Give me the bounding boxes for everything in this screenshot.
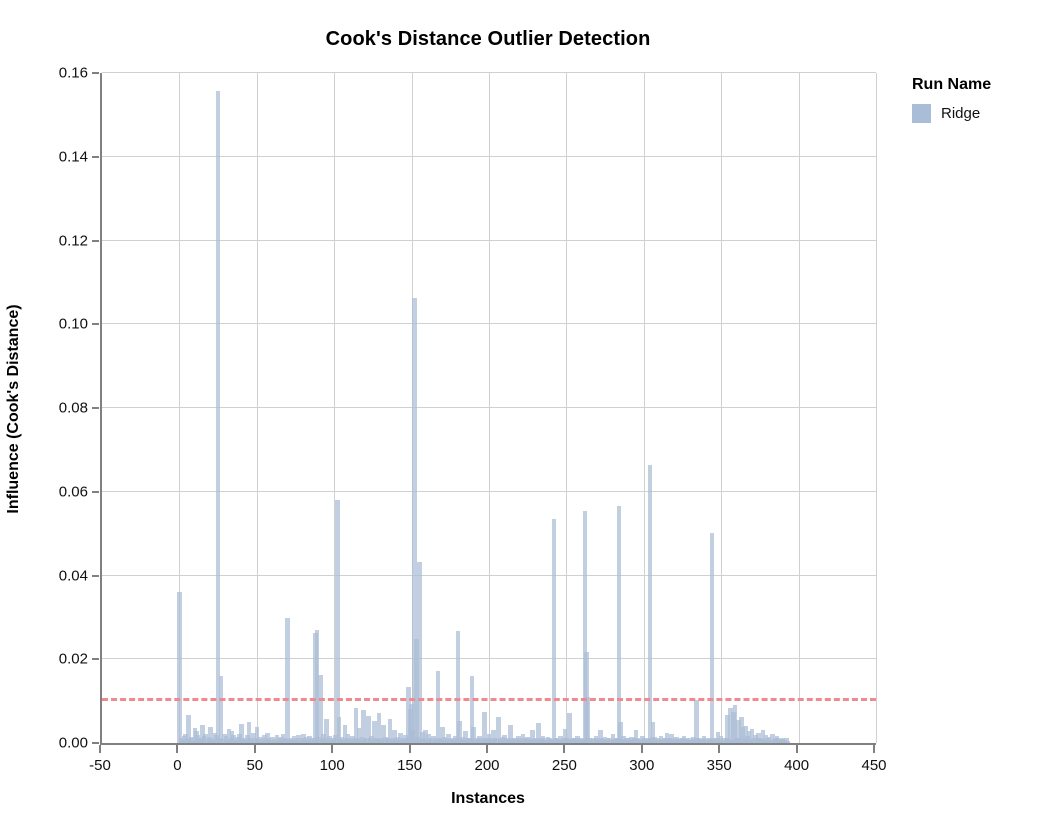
x-tick-mark (331, 745, 333, 753)
y-tick-label: 0.16 (32, 65, 88, 82)
x-tick-label: -50 (89, 757, 111, 774)
x-tick-mark (409, 745, 411, 753)
y-tick-mark (92, 240, 99, 242)
legend-entry-ridge[interactable]: Ridge (912, 104, 1032, 123)
x-tick-mark (176, 745, 178, 753)
y-tick-mark (92, 323, 99, 325)
y-tick-label: 0.12 (32, 232, 88, 249)
cooks-distance-chart: Cook's Distance Outlier Detection Influe… (0, 0, 1040, 840)
x-tick-mark (796, 745, 798, 753)
legend-entry-label: Ridge (941, 105, 980, 122)
y-axis-title: Influence (Cook's Distance) (5, 304, 23, 513)
y-tick-label: 0.14 (32, 148, 88, 165)
x-tick-mark (563, 745, 565, 753)
legend-title: Run Name (912, 76, 1032, 94)
y-tick-mark (92, 658, 99, 660)
x-tick-label: 150 (397, 757, 422, 774)
y-tick-label: 0.02 (32, 651, 88, 668)
x-tick-label: 350 (707, 757, 732, 774)
x-tick-label: 0 (173, 757, 181, 774)
gridline-vertical (876, 73, 877, 743)
y-tick-label: 0.10 (32, 316, 88, 333)
threshold-layer (102, 73, 876, 743)
x-tick-label: 300 (629, 757, 654, 774)
x-tick-label: 450 (861, 757, 886, 774)
y-tick-mark (92, 742, 99, 744)
y-tick-label: 0.00 (32, 735, 88, 752)
x-axis-title: Instances (100, 790, 876, 808)
x-tick-mark (718, 745, 720, 753)
y-tick-mark (92, 72, 99, 74)
x-tick-label: 50 (246, 757, 263, 774)
x-tick-label: 100 (320, 757, 345, 774)
legend: Run Name Ridge (912, 76, 1032, 123)
y-tick-mark (92, 156, 99, 158)
y-tick-mark (92, 575, 99, 577)
y-tick-label: 0.06 (32, 483, 88, 500)
legend-swatch-icon (912, 104, 931, 123)
y-tick-mark (92, 407, 99, 409)
x-tick-mark (254, 745, 256, 753)
x-tick-label: 250 (552, 757, 577, 774)
y-tick-mark (92, 491, 99, 493)
x-tick-label: 400 (784, 757, 809, 774)
y-tick-label: 0.04 (32, 567, 88, 584)
chart-title: Cook's Distance Outlier Detection (100, 28, 876, 51)
x-tick-mark (641, 745, 643, 753)
x-tick-label: 200 (474, 757, 499, 774)
y-tick-label: 0.08 (32, 400, 88, 417)
x-tick-mark (99, 745, 101, 753)
x-tick-mark (873, 745, 875, 753)
plot-area (100, 73, 876, 745)
x-tick-mark (486, 745, 488, 753)
threshold-line (102, 698, 876, 701)
